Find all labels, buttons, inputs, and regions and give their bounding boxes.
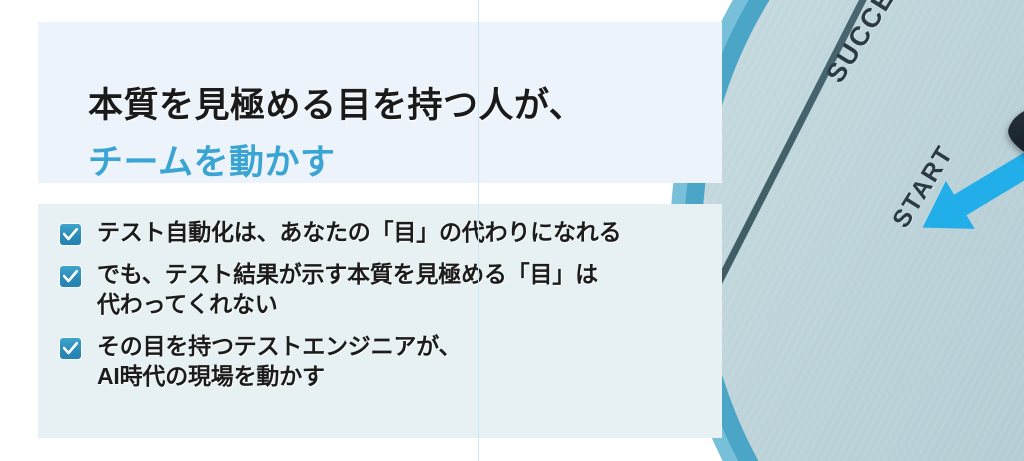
list-item: テスト自動化は、あなたの「目」の代わりになれる	[60, 218, 712, 248]
list-item: その目を持つテストエンジニアが、 AI時代の現場を動かす	[60, 332, 712, 392]
list-item-text: テスト自動化は、あなたの「目」の代わりになれる	[97, 218, 621, 248]
center-guide-line	[478, 0, 479, 461]
list-item-line-1: でも、テスト結果が示す本質を見極める「目」は	[97, 261, 598, 287]
list-item-text: でも、テスト結果が示す本質を見極める「目」は 代わってくれない	[97, 260, 598, 320]
floor-grain-texture	[702, 0, 1024, 461]
title-panel: 本質を見極める目を持つ人が、 チームを動かす	[38, 22, 722, 183]
bullet-list: テスト自動化は、あなたの「目」の代わりになれる でも、テスト結果が示す本質を見極…	[60, 218, 712, 403]
check-square-icon	[60, 266, 81, 287]
bullets-panel: テスト自動化は、あなたの「目」の代わりになれる でも、テスト結果が示す本質を見極…	[38, 204, 722, 438]
list-item-line-2: 代わってくれない	[97, 290, 598, 320]
check-square-icon	[60, 338, 81, 359]
page-title-line-1: 本質を見極める目を持つ人が、	[88, 77, 584, 128]
slide-canvas: SUCCESS START 本質を見極める目を持つ人が、 チームを動かす	[0, 0, 1024, 461]
list-item-text: その目を持つテストエンジニアが、 AI時代の現場を動かす	[97, 332, 461, 392]
list-item-line-1: テスト自動化は、あなたの「目」の代わりになれる	[97, 219, 621, 245]
list-item-line-2: AI時代の現場を動かす	[97, 362, 461, 392]
check-square-icon	[60, 224, 81, 245]
page-title-line-2: チームを動かす	[88, 134, 335, 185]
list-item: でも、テスト結果が示す本質を見極める「目」は 代わってくれない	[60, 260, 712, 320]
photo-disc: SUCCESS START	[702, 0, 1024, 461]
list-item-line-1: その目を持つテストエンジニアが、	[97, 333, 461, 359]
